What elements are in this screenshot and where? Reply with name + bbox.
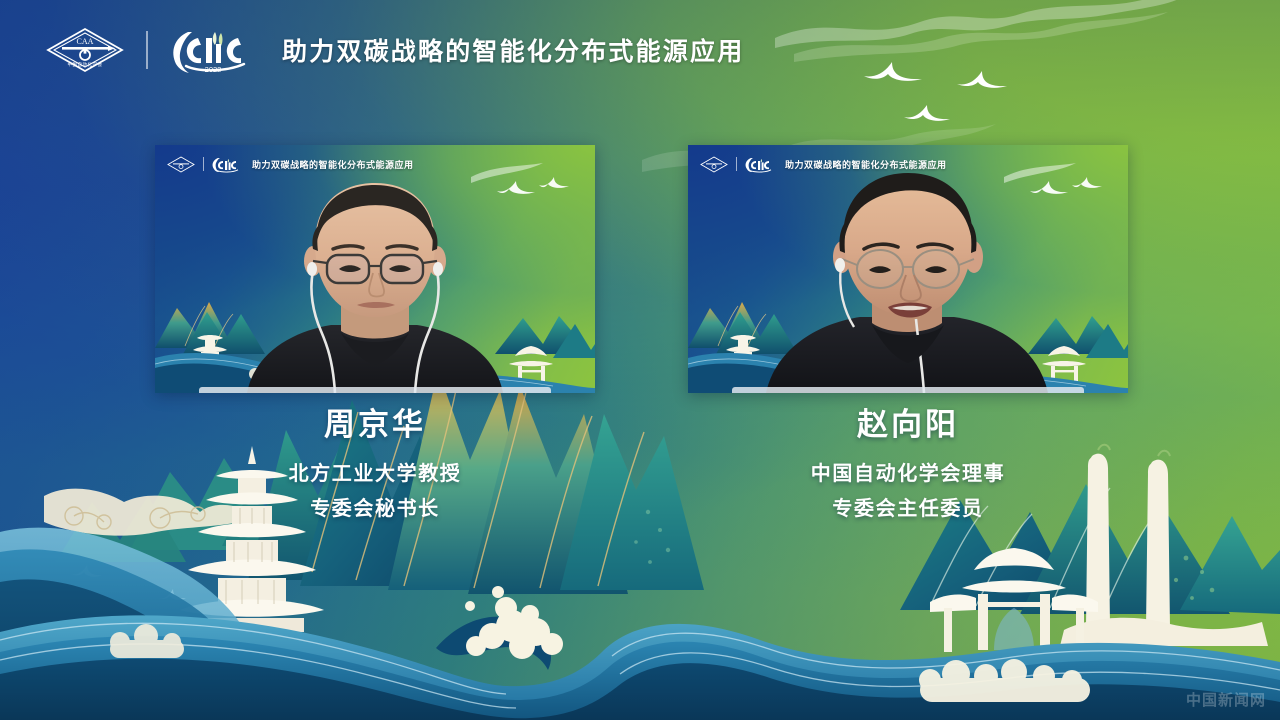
ciic-logo-icon: 2022 bbox=[168, 26, 258, 74]
event-banner: CAA 中国自动化学会 2022 助力双碳战略的智能化分布式能源 bbox=[0, 0, 1280, 100]
speaker-video-feed bbox=[155, 145, 595, 393]
speaker-position: 专委会秘书长 bbox=[155, 493, 595, 525]
video-tile-speaker-2[interactable]: 助力双碳战略的智能化分布式能源应用 bbox=[688, 145, 1128, 393]
logo-divider bbox=[146, 31, 148, 69]
speaker-name: 赵向阳 bbox=[688, 405, 1128, 445]
speaker-affiliation: 北方工业大学教授 bbox=[155, 458, 595, 490]
desk-edge bbox=[199, 387, 551, 393]
speaker-position: 专委会主任委员 bbox=[688, 493, 1128, 525]
svg-text:中国自动化学会: 中国自动化学会 bbox=[68, 61, 103, 68]
video-tile-speaker-1[interactable]: 助力双碳战略的智能化分布式能源应用 bbox=[155, 145, 595, 393]
speaker-name: 周京华 bbox=[155, 405, 595, 445]
speaker-affiliation: 中国自动化学会理事 bbox=[688, 458, 1128, 490]
broadcaster-watermark: 中国新闻网 bbox=[1186, 689, 1266, 710]
broadcast-screen: CAA 中国自动化学会 2022 助力双碳战略的智能化分布式能源 bbox=[0, 0, 1280, 720]
speaker-caption-1: 周京华 北方工业大学教授 专委会秘书长 bbox=[155, 405, 595, 525]
caa-logo-icon: CAA 中国自动化学会 bbox=[46, 27, 124, 73]
speaker-video-feed bbox=[688, 145, 1128, 393]
speaker-caption-2: 赵向阳 中国自动化学会理事 专委会主任委员 bbox=[688, 405, 1128, 525]
svg-text:2022: 2022 bbox=[205, 65, 222, 74]
desk-edge bbox=[732, 387, 1084, 393]
page-title: 助力双碳战略的智能化分布式能源应用 bbox=[282, 32, 744, 68]
svg-text:CAA: CAA bbox=[77, 37, 94, 46]
